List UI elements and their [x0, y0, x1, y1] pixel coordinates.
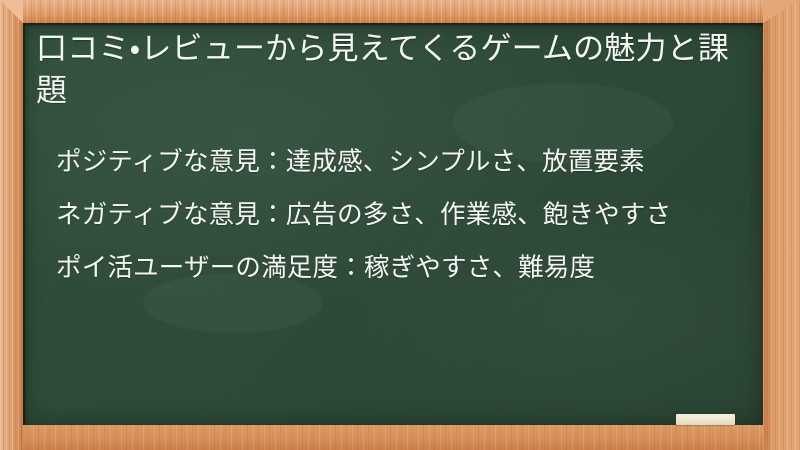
wood-frame-left [0, 0, 23, 450]
bullet-item-positive: ポジティブな意見：達成感、シンプルさ、放置要素 [36, 145, 752, 180]
blackboard-slide: 口コミ・レビューから見えてくるゲームの魅力と課題 ポジティブな意見：達成感、シン… [0, 0, 800, 450]
chalk-eraser-icon [676, 414, 735, 425]
bullet-item-satisfaction: ポイ活ユーザーの満足度：稼ぎやすさ、難易度 [36, 251, 752, 286]
wood-frame-corner-top-left [0, 0, 23, 23]
chalkboard-surface: 口コミ・レビューから見えてくるゲームの魅力と課題 ポジティブな意見：達成感、シン… [23, 23, 763, 425]
slide-title: 口コミ・レビューから見えてくるゲームの魅力と課題 [36, 29, 746, 112]
wood-frame-corner-top-right [763, 0, 800, 23]
wood-frame-top [0, 0, 800, 23]
bullet-list: ポジティブな意見：達成感、シンプルさ、放置要素 ネガティブな意見：広告の多さ、作… [36, 145, 752, 287]
bullet-item-negative: ネガティブな意見：広告の多さ、作業感、飽きやすさ [36, 198, 752, 233]
wood-frame-bottom-ledge [0, 424, 800, 450]
wood-frame-right [763, 0, 800, 450]
